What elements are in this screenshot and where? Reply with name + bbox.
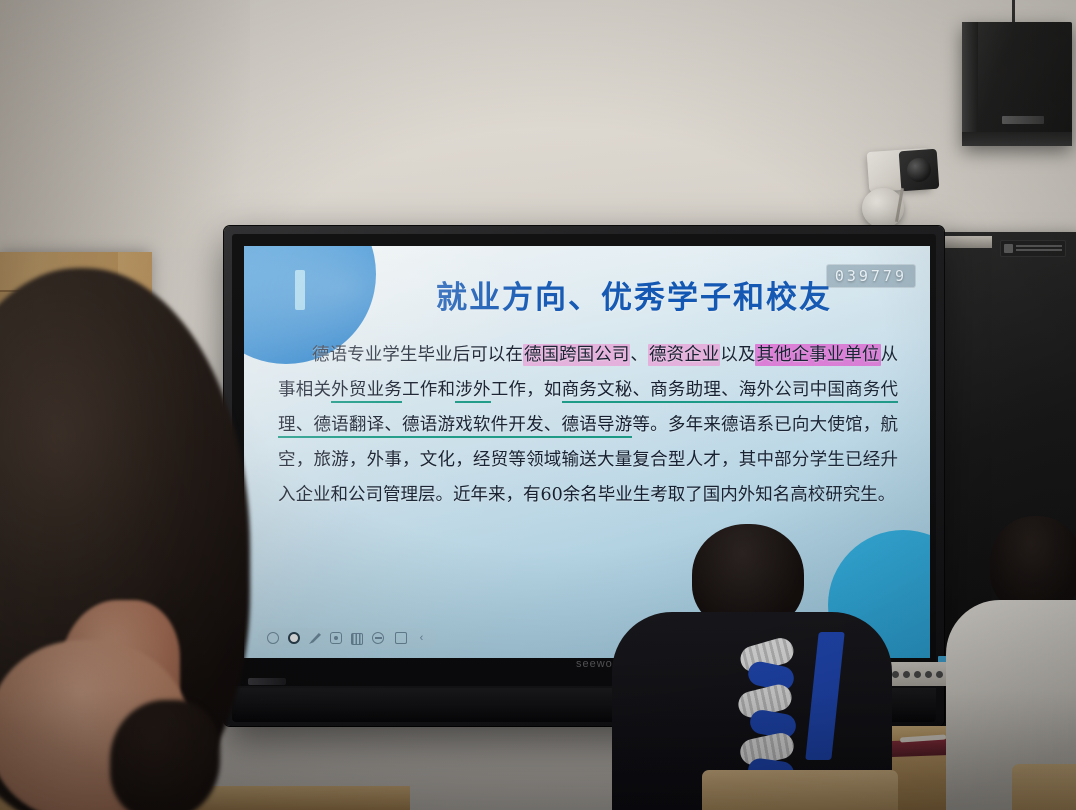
photo-vignette (0, 0, 1076, 810)
classroom-photo: 039779 就业方向、优秀学子和校友 德语专业学生毕业后可以在德国跨国公司、德… (0, 0, 1076, 810)
